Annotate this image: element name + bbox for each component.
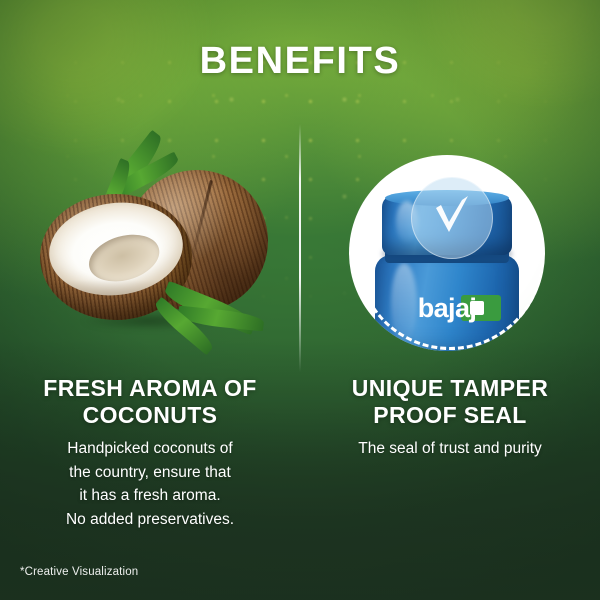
benefit-body-line: No added preservatives. bbox=[36, 508, 264, 532]
coconut-icon bbox=[30, 158, 280, 353]
benefits-banner: BENEFITS FRESH AROMA OF COCONUTS H bbox=[0, 0, 600, 600]
brand-logo: bajaj bbox=[349, 295, 545, 322]
benefit-body: The seal of trust and purity bbox=[300, 437, 600, 461]
jar-icon: bajaj bbox=[349, 155, 545, 351]
product-jar: bajaj bbox=[349, 155, 545, 351]
benefit-body-line: the country, ensure that bbox=[36, 461, 264, 485]
coconut-seam bbox=[190, 179, 213, 260]
benefit-body: Handpicked coconuts of the country, ensu… bbox=[0, 437, 300, 531]
benefit-body-line: Handpicked coconuts of bbox=[36, 437, 264, 461]
checkmark-glyph bbox=[432, 194, 472, 238]
benefit-column-fresh-aroma: FRESH AROMA OF COCONUTS Handpicked cocon… bbox=[0, 0, 300, 600]
badge-circle: bajaj bbox=[349, 155, 545, 351]
benefit-body-line: The seal of trust and purity bbox=[326, 437, 574, 461]
benefit-body-line: it has a fresh aroma. bbox=[36, 484, 264, 508]
half-coconut bbox=[40, 194, 192, 320]
checkmark-seal-icon bbox=[411, 177, 493, 259]
footnote: *Creative Visualization bbox=[20, 566, 138, 578]
benefit-heading: UNIQUE TAMPER PROOF SEAL bbox=[300, 375, 600, 429]
benefit-heading: FRESH AROMA OF COCONUTS bbox=[0, 375, 300, 429]
